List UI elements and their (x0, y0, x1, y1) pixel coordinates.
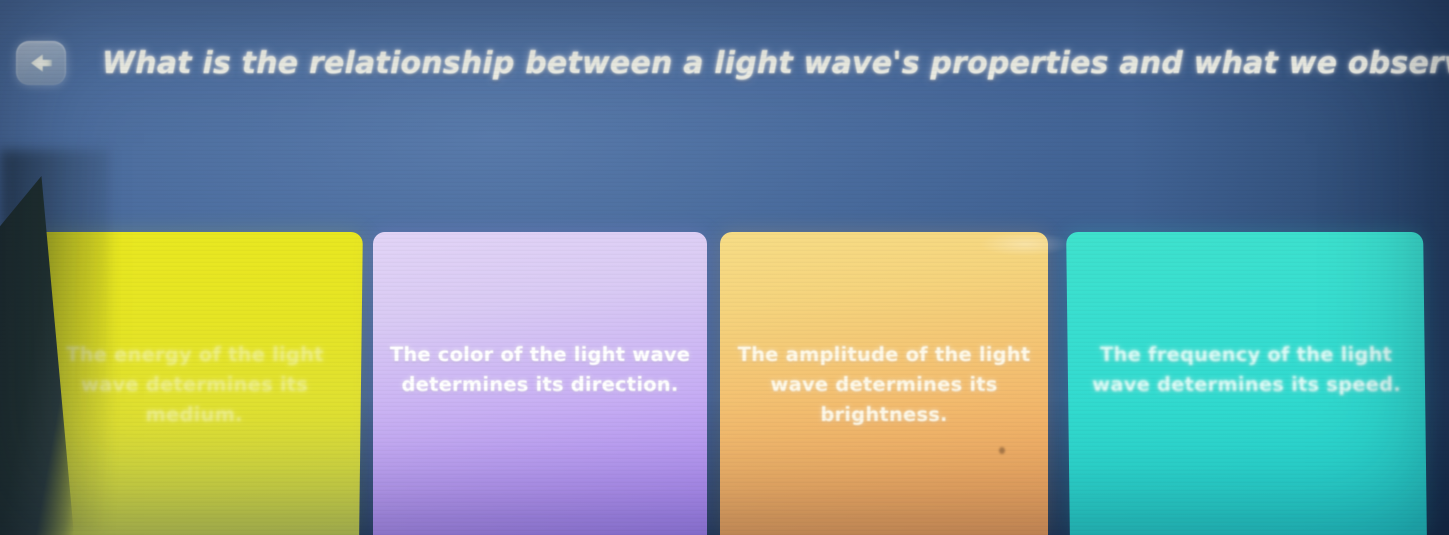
back-arrow-icon (30, 53, 52, 73)
header-bar: What is the relationship between a light… (0, 34, 1449, 92)
answer-option-d-label: The frequency of the light wave determin… (1081, 340, 1411, 400)
answer-option-c-label: The amplitude of the light wave determin… (734, 340, 1034, 430)
quiz-screen: What is the relationship between a light… (0, 0, 1449, 535)
answer-option-c[interactable]: The amplitude of the light wave determin… (720, 232, 1048, 535)
question-title: What is the relationship between a light… (102, 46, 1449, 81)
answer-option-a[interactable]: The energy of the light wave determines … (26, 232, 363, 535)
answer-option-b-label: The color of the light wave determines i… (387, 340, 693, 400)
answer-option-d[interactable]: The frequency of the light wave determin… (1066, 232, 1427, 535)
back-button[interactable] (16, 41, 66, 85)
answer-option-a-label: The energy of the light wave determines … (41, 340, 347, 430)
answer-option-b[interactable]: The color of the light wave determines i… (373, 232, 707, 535)
answer-options-row: The energy of the light wave determines … (0, 232, 1449, 535)
